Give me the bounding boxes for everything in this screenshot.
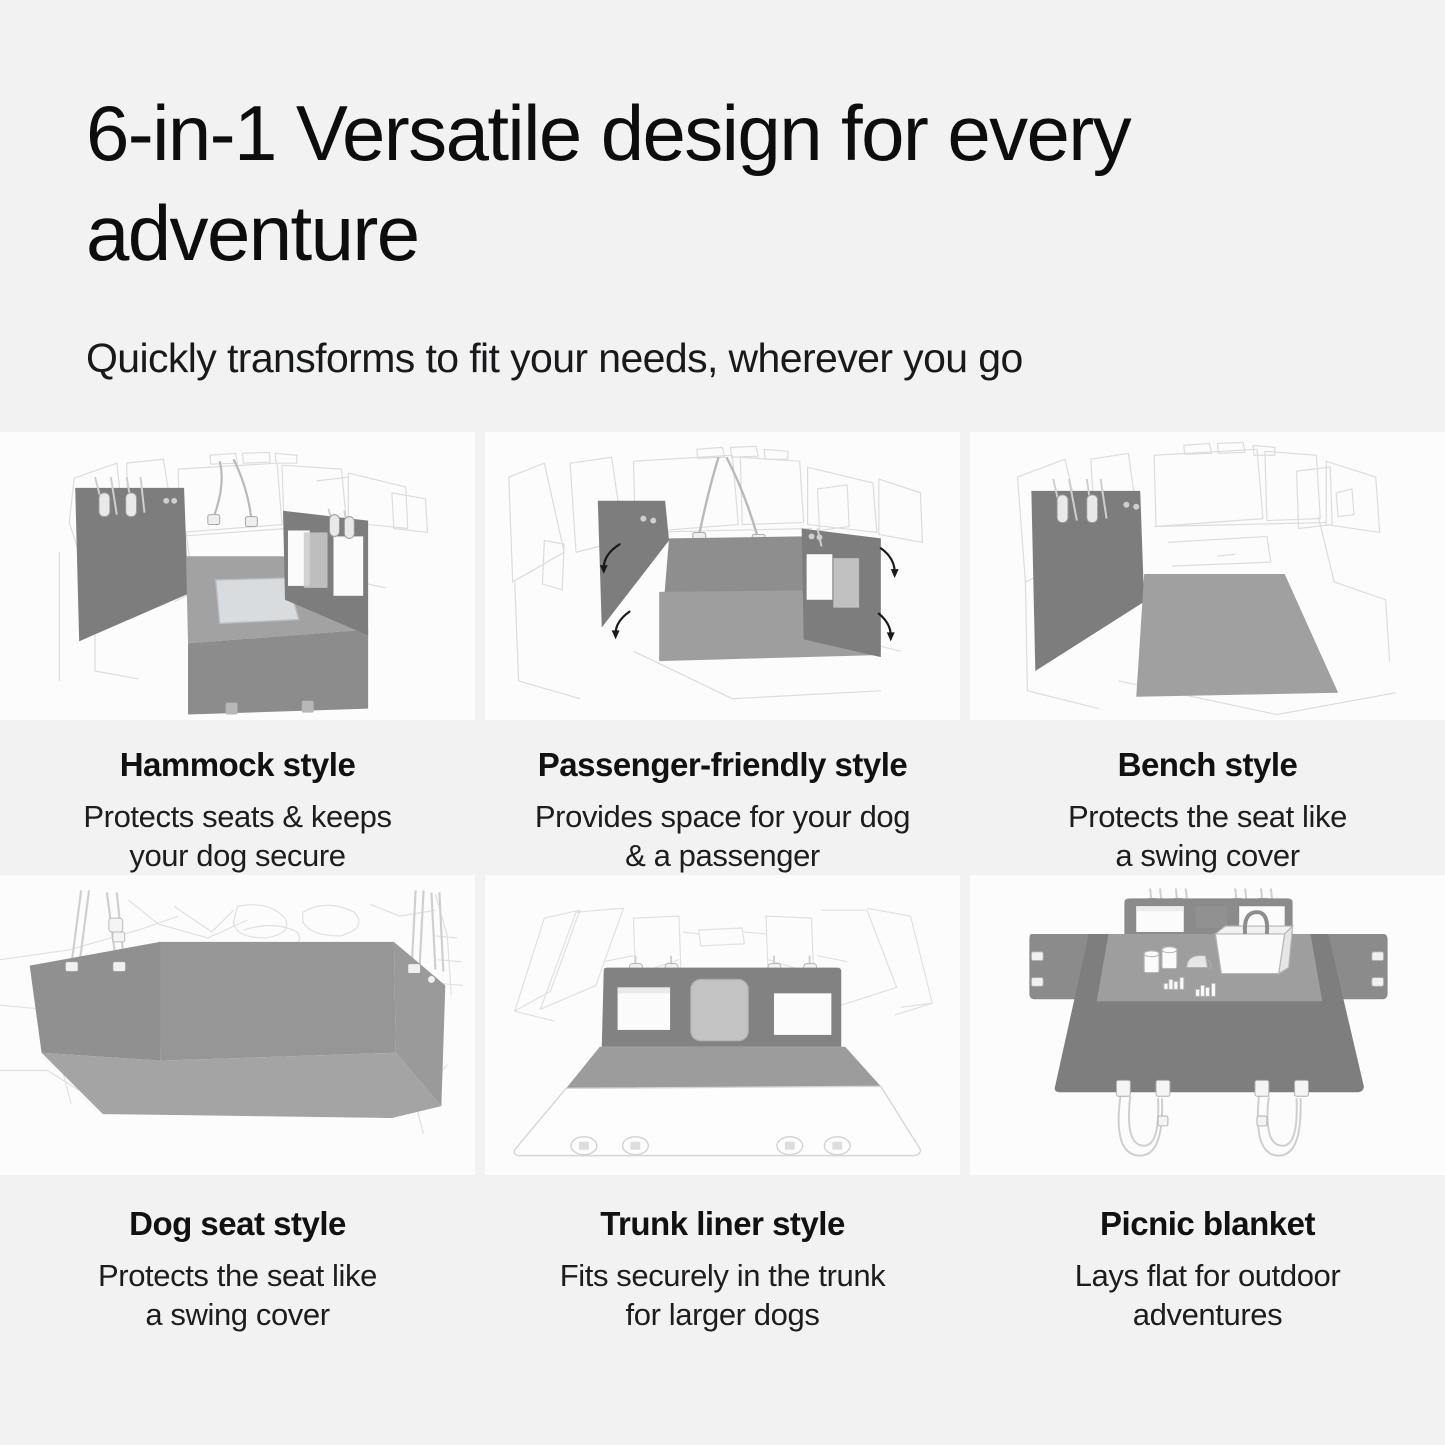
feature-description: Provides space for your dog & a passenge… — [535, 798, 910, 876]
feature-description: Fits securely in the trunk for larger do… — [560, 1257, 886, 1335]
feature-grid: Hammock style Protects seats & keeps you… — [0, 432, 1445, 1335]
passenger-friendly-illustration — [485, 432, 960, 720]
trunk-liner-illustration-card — [485, 875, 960, 1175]
dog-seat-illustration — [0, 875, 475, 1175]
passenger-friendly-illustration-card — [485, 432, 960, 720]
hammock-illustration — [0, 432, 475, 720]
picnic-blanket-illustration-card — [970, 875, 1445, 1175]
feature-title: Hammock style — [83, 746, 391, 784]
feature-card-passenger-friendly-style: Passenger-friendly style Provides space … — [485, 432, 960, 875]
dog-seat-illustration-card — [0, 875, 475, 1175]
feature-card-trunk-liner-style: Trunk liner style Fits securely in the t… — [485, 875, 960, 1334]
page-title: 6-in-1 Versatile design for every advent… — [86, 84, 1266, 284]
picnic-blanket-illustration — [970, 875, 1445, 1175]
caption-hammock-style: Hammock style Protects seats & keeps you… — [67, 720, 407, 875]
feature-title: Trunk liner style — [560, 1205, 886, 1243]
feature-card-hammock-style: Hammock style Protects seats & keeps you… — [0, 432, 475, 875]
bench-illustration — [970, 432, 1445, 720]
feature-description: Protects the seat like a swing cover — [1068, 798, 1347, 876]
hammock-illustration-card — [0, 432, 475, 720]
feature-card-picnic-blanket: Picnic blanket Lays flat for outdoor adv… — [970, 875, 1445, 1334]
feature-title: Picnic blanket — [1075, 1205, 1341, 1243]
caption-dog-seat-style: Dog seat style Protects the seat like a … — [82, 1175, 393, 1334]
feature-card-dog-seat-style: Dog seat style Protects the seat like a … — [0, 875, 475, 1334]
feature-page: 6-in-1 Versatile design for every advent… — [0, 0, 1445, 1445]
feature-description: Protects seats & keeps your dog secure — [83, 798, 391, 876]
feature-description: Lays flat for outdoor adventures — [1075, 1257, 1341, 1335]
page-subtitle: Quickly transforms to fit your needs, wh… — [86, 332, 1365, 385]
caption-trunk-liner-style: Trunk liner style Fits securely in the t… — [544, 1175, 902, 1334]
feature-description: Protects the seat like a swing cover — [98, 1257, 377, 1335]
feature-card-bench-style: Bench style Protects the seat like a swi… — [970, 432, 1445, 875]
feature-title: Dog seat style — [98, 1205, 377, 1243]
caption-bench-style: Bench style Protects the seat like a swi… — [1052, 720, 1363, 875]
bench-illustration-card — [970, 432, 1445, 720]
page-header: 6-in-1 Versatile design for every advent… — [0, 0, 1445, 385]
caption-passenger-friendly-style: Passenger-friendly style Provides space … — [519, 720, 926, 875]
trunk-liner-illustration — [485, 875, 960, 1175]
caption-picnic-blanket: Picnic blanket Lays flat for outdoor adv… — [1059, 1175, 1357, 1334]
feature-title: Passenger-friendly style — [535, 746, 910, 784]
feature-title: Bench style — [1068, 746, 1347, 784]
